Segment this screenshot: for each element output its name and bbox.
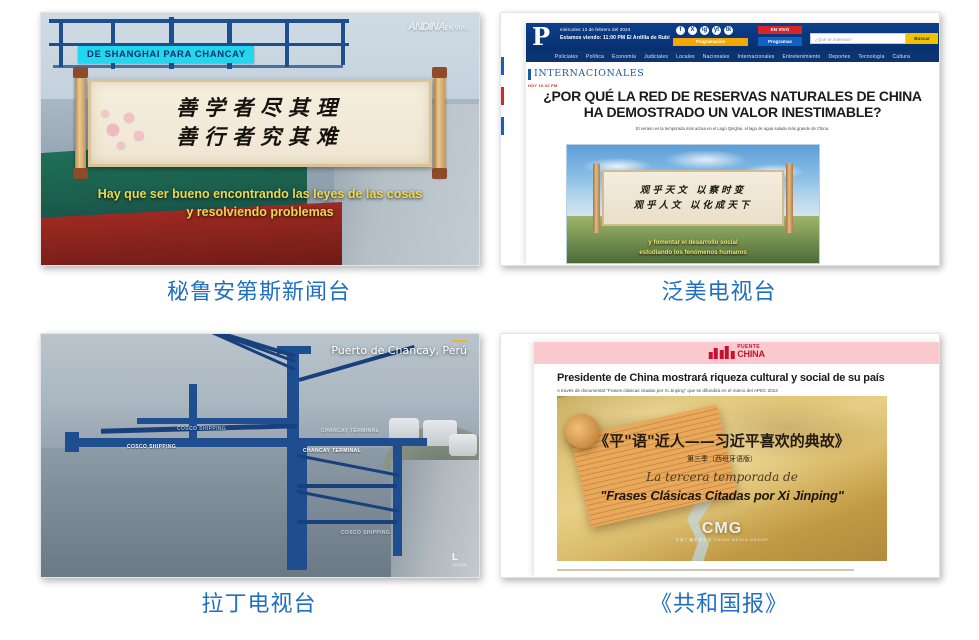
nav-item-nacionales[interactable]: Nacionales [703, 54, 730, 60]
article-body: INTERNACIONALES HOY 10:32 PM ¿POR QUÉ LA… [526, 62, 939, 265]
poster-season-cn: 第三季（西班牙语版） [557, 454, 887, 464]
nav-item-locales[interactable]: Locales [676, 54, 695, 60]
cmg-logo: CMG 中央广播电视总台 CHINA MEDIA GROUP [557, 520, 887, 543]
video-subtitle: y fomentar el desarrollo social estudian… [567, 238, 819, 257]
crane-secondary-mast [189, 384, 197, 442]
logo-text: PUENTE CHINA [737, 345, 765, 359]
crane-boom [69, 438, 297, 447]
scroll-rod-left [593, 163, 600, 233]
youtube-icon[interactable]: yt [712, 26, 721, 35]
panel-3-media[interactable]: Puerto de Chancay, Perú COSCO SHIPPING C… [40, 333, 480, 578]
calligraphy-scroll: 善学者尽其理 善行者究其难 [75, 69, 445, 177]
video-subtitle-line-2: estudiando los fenómenos humanos [567, 248, 819, 257]
poster-title-es-1: La tercera temporada de [557, 470, 887, 484]
nav-item-politica[interactable]: Política [586, 54, 604, 60]
panel-4-container: PUENTE CHINA Presidente de China mostrar… [500, 333, 938, 576]
crane-label-cosco-1: COSCO SHIPPING [127, 444, 176, 450]
crane-label-cosco-2: COSCO SHIPPING [177, 426, 226, 432]
tiktok-icon[interactable]: tk [724, 26, 733, 35]
programacion-button[interactable]: Programación [673, 38, 748, 46]
scroll-line-1: 善学者尽其理 [176, 94, 344, 123]
cmg-logo-subtext: 中央广播电视总台 CHINA MEDIA GROUP [557, 538, 887, 543]
search-input[interactable]: ¿Qué te interesa? [810, 33, 906, 44]
article-lead: El verano es la temporada más activa en … [566, 126, 899, 132]
browser-canvas: P miércoles 13 de febrero del 2024 Estam… [501, 13, 939, 265]
media-collage: ANDINAEN VIVO DE SHANGHAI PARA CHANCAY 善… [0, 0, 979, 640]
crane-beam [49, 19, 349, 23]
programas-button[interactable]: Programas [758, 37, 802, 46]
left-color-bars [501, 57, 504, 147]
instagram-icon[interactable]: ig [700, 26, 709, 35]
crane-secondary-boom [137, 418, 297, 424]
crane-cross-brace [297, 520, 397, 524]
site-status: Estamos viendo: 11:00 PM El Ardilla de R… [560, 35, 670, 41]
page-divider [557, 569, 854, 571]
site-header: P miércoles 13 de febrero del 2024 Estam… [526, 23, 939, 51]
article-section-label[interactable]: INTERNACIONALES [534, 68, 644, 79]
social-icons[interactable]: f X ig yt tk [676, 26, 733, 35]
crane-rail [53, 65, 343, 68]
lower-third-banner: DE SHANGHAI PARA CHANCAY [78, 46, 254, 63]
crane-label-terminal-1: CHANCAY TERMINAL [303, 448, 361, 454]
subtitle-line-1: Hay que ser bueno encontrando las leyes … [59, 185, 461, 203]
panel-2-container: P miércoles 13 de febrero del 2024 Estam… [500, 12, 938, 264]
news-site: P miércoles 13 de febrero del 2024 Estam… [526, 23, 939, 265]
panel-2-media[interactable]: P miércoles 13 de febrero del 2024 Estam… [500, 12, 940, 266]
puente-a-china-site: PUENTE CHINA Presidente de China mostrar… [534, 342, 939, 577]
building-icon [708, 346, 734, 359]
site-header-band: PUENTE CHINA [534, 342, 939, 364]
site-date-block: miércoles 13 de febrero del 2024 Estamos… [560, 26, 670, 42]
nav-item-judiciales[interactable]: Judiciales [644, 54, 668, 60]
subtitle-line-2: y resolviendo problemas [59, 203, 461, 221]
video-scroll-line-1: 观乎天文 以察时变 [640, 183, 746, 198]
crane-leg [297, 446, 307, 570]
article-poster[interactable]: 《平"语"近人——习近平喜欢的典故》 第三季（西班牙语版） La tercera… [557, 396, 887, 561]
location-label: Puerto de Chancay, Perú [331, 344, 467, 357]
logo-china: CHINA [737, 350, 765, 359]
panel-1-container: ANDINAEN VIVO DE SHANGHAI PARA CHANCAY 善… [40, 12, 478, 264]
puente-a-china-logo[interactable]: PUENTE CHINA [708, 345, 765, 359]
article-headline: Presidente de China mostrará riqueza cul… [557, 372, 921, 384]
site-date: miércoles 13 de febrero del 2024 [560, 26, 670, 34]
panel-4-caption: 《共和国报》 [500, 586, 938, 618]
poster-title-es-2: "Frases Clásicas Citadas por Xi Jinping" [557, 488, 887, 503]
channel-watermark: ANDINAEN VIVO [408, 21, 469, 33]
crane-label-cosco-3: COSCO SHIPPING [341, 530, 390, 536]
search-button[interactable]: Buscar [906, 33, 938, 44]
nav-item-entretenimiento[interactable]: Entretenimiento [782, 54, 820, 60]
scroll-paper: 观乎天文 以察时变 观乎人文 以化成天下 [602, 170, 784, 226]
scroll-rod-right [786, 163, 793, 233]
nav-item-economia[interactable]: Economía [612, 54, 636, 60]
site-logo[interactable]: P [532, 24, 554, 50]
plum-blossom-icon [95, 100, 165, 162]
accent-tick [451, 340, 467, 342]
channel-watermark: L LATINA [452, 552, 467, 567]
nav-item-internacionales[interactable]: Internacionales [738, 54, 775, 60]
crane-cross-brace [297, 484, 397, 488]
cmg-logo-text: CMG [557, 520, 887, 538]
nav-item-deportes[interactable]: Deportes [828, 54, 850, 60]
crane-leg [393, 446, 402, 556]
nav-item-tecnologia[interactable]: Tecnología [858, 54, 884, 60]
article-subhead: A través de documental "Frases clásicas … [557, 388, 921, 393]
facebook-icon[interactable]: f [676, 26, 685, 35]
storage-tank [449, 434, 477, 456]
nav-item-policiales[interactable]: Policiales [555, 54, 578, 60]
nav-item-cultura[interactable]: Cultura [893, 54, 911, 60]
scroll-rod-right [434, 69, 445, 177]
poster-title-cn: 《平"语"近人——习近平喜欢的典故》 [557, 430, 887, 451]
crane-back-boom [299, 438, 427, 446]
panel-1-media[interactable]: ANDINAEN VIVO DE SHANGHAI PARA CHANCAY 善… [40, 12, 480, 266]
crane-boom-tip [65, 432, 79, 452]
scroll-rod-left [75, 69, 86, 177]
panel-2-caption: 泛美电视台 [500, 274, 938, 306]
scroll-paper: 善学者尽其理 善行者究其难 [88, 79, 432, 167]
video-subtitle-line-1: y fomentar el desarrollo social [567, 238, 819, 247]
en-vivo-button[interactable]: EN VIVO [758, 26, 802, 34]
video-scroll-line-2: 观乎人文 以化成天下 [634, 198, 753, 213]
crane-label-terminal-2: CHANCAY TERMINAL [321, 428, 379, 434]
panel-4-media[interactable]: PUENTE CHINA Presidente de China mostrar… [500, 333, 940, 578]
site-navigation[interactable]: Policiales Política Economía Judiciales … [526, 51, 939, 62]
twitter-x-icon[interactable]: X [688, 26, 697, 35]
panel-3-container: Puerto de Chancay, Perú COSCO SHIPPING C… [40, 333, 478, 576]
scroll-line-2: 善行者究其难 [176, 123, 344, 152]
video-subtitle: Hay que ser bueno encontrando las leyes … [41, 185, 479, 221]
panel-1-caption: 秘鲁安第斯新闻台 [40, 274, 478, 306]
article-video-player[interactable]: 观乎天文 以察时变 观乎人文 以化成天下 y fomentar el desar… [566, 144, 820, 264]
video-calligraphy-scroll: 观乎天文 以察时变 观乎人文 以化成天下 [593, 163, 793, 233]
article-headline: ¿POR QUÉ LA RED DE RESERVAS NATURALES DE… [532, 89, 933, 120]
panel-3-caption: 拉丁电视台 [40, 586, 478, 618]
